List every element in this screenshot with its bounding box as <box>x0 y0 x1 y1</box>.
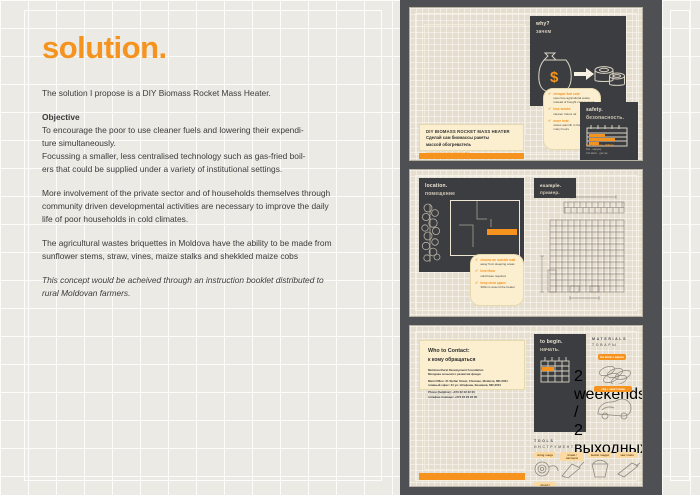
material-chip: clay + sand / глина <box>594 386 632 392</box>
dollar-glyph: $ <box>550 69 559 86</box>
agricultural-wastes-paragraph: The agricultural wastes briquettes in Mo… <box>42 237 332 263</box>
example-title-en: example. <box>540 183 576 190</box>
poster-cover[interactable]: why? зачем $ <box>410 8 642 160</box>
poster-orange-bar <box>419 153 524 159</box>
material-chip: fire bricks / кирпич <box>598 354 626 360</box>
location-panel-heading: location. помещение <box>419 178 524 198</box>
foliage-icon <box>421 202 447 264</box>
callout-item: ✔ level floor solid base required <box>475 269 519 277</box>
check-icon: ✔ <box>475 269 478 277</box>
solution-text-column: solution. The solution I propose is a DI… <box>0 0 400 495</box>
clay-sack-icon <box>594 396 636 420</box>
contact-line-2: Молдова сельского развития фонда <box>428 372 516 376</box>
right-page-margin <box>662 0 700 495</box>
callout-body: 300mm around the heater <box>480 285 515 289</box>
contact-address: Main Office: 31 Stefan Street, Chisinau,… <box>428 379 516 387</box>
tool-chip: shovel / лопата <box>534 482 556 486</box>
intro-paragraph: The solution I propose is a DIY Biomass … <box>42 87 332 100</box>
callout-item: ✔ keep clear space 300mm around the heat… <box>475 281 519 289</box>
safety-title-ru: безопасность. <box>586 115 638 123</box>
callout-text: choose an outside wall away from sleepin… <box>480 258 515 266</box>
tool-chip: saw / пила <box>616 452 638 458</box>
location-title-en: location. <box>425 183 524 191</box>
callout-text: keep clear space 300mm around the heater <box>480 281 515 289</box>
objective-line-3: Focussing a smaller, less centralised te… <box>42 151 305 161</box>
contact-title-ru: к кому обращаться <box>428 356 516 364</box>
check-icon: ✔ <box>548 92 551 104</box>
check-icon: ✔ <box>548 119 551 131</box>
callout-text: less smoke cleaner indoor air <box>553 107 576 115</box>
poster-cover-artboard <box>424 24 526 134</box>
callout-item: ✔ choose an outside wall away from sleep… <box>475 258 519 266</box>
poster-title-ru-2: массой обогреватель <box>426 142 517 148</box>
callout-text: level floor solid base required <box>480 269 505 277</box>
string-spool-icon <box>534 460 560 478</box>
tools-section: TOOLS ИНСТРУМЕНТ string / шнур trowel / … <box>534 438 638 480</box>
poster-board: why? зачем $ <box>400 0 662 495</box>
floor-plan-lines <box>451 201 517 253</box>
objective-label: Objective <box>42 111 332 124</box>
tool-chip: bucket / ведро <box>588 452 612 458</box>
poster-title-block: DIY BIOMASS ROCKET MASS HEATER Сделай са… <box>419 124 524 151</box>
solution-body: The solution I propose is a DIY Biomass … <box>42 87 366 300</box>
why-title-ru: зачем <box>536 29 626 37</box>
safety-panel-heading: safety. безопасность. <box>580 102 638 122</box>
callout-body: cleaner indoor air <box>553 112 576 116</box>
begin-title-ru: начать. <box>540 347 586 355</box>
why-panel-heading: why? зачем <box>530 16 626 36</box>
materials-section: MATERIALS ТОВАРЫ fire bricks / кирпич cl… <box>592 336 636 432</box>
example-title-ru: пример. <box>540 190 576 197</box>
trowel-icon <box>560 460 586 478</box>
brick-elevation-drawing: example. пример. <box>532 178 634 308</box>
arrow-right-icon <box>574 68 594 80</box>
concept-paragraph: This concept would be acheived through a… <box>42 274 332 300</box>
bucket-icon <box>588 460 614 478</box>
to-begin-panel: to begin. начать. 2 weekends / 2 выходны… <box>534 334 586 432</box>
page-title: solution. <box>42 32 366 63</box>
tools-label-ru: ИНСТРУМЕНТ <box>534 444 638 450</box>
callout-body: solid base required <box>480 274 505 278</box>
objective-line-4: ers that could be supplied under a varie… <box>42 164 282 174</box>
poster-contact-materials[interactable]: Who to Contact: к кому обращаться Moldov… <box>410 326 642 486</box>
calendar-icon <box>539 356 571 384</box>
materials-label-ru: ТОВАРЫ <box>592 342 636 348</box>
begin-title-en: to begin. <box>540 339 586 347</box>
poster-location[interactable]: location. помещение <box>410 170 642 316</box>
check-icon: ✔ <box>475 258 478 266</box>
example-label-badge: example. пример. <box>534 178 576 198</box>
private-sector-paragraph: More involvement of the private sector a… <box>42 187 332 226</box>
objective-line-1: To encourage the poor to use cleaner fue… <box>42 125 304 135</box>
to-begin-heading: to begin. начать. <box>534 334 586 354</box>
safety-legend: fire clearance · 300mm flue · наружу CO … <box>586 144 614 156</box>
tools-label: TOOLS ИНСТРУМЕНТ <box>534 438 638 450</box>
floor-plan-icon <box>450 200 520 256</box>
briquette-stack-icon <box>595 67 625 86</box>
safety-panel: safety. безопасность. fire clearance · 3… <box>580 102 638 160</box>
why-title-en: why? <box>536 21 626 29</box>
materials-label: MATERIALS ТОВАРЫ <box>592 336 636 348</box>
location-callout-bubble: ✔ choose an outside wall away from sleep… <box>470 254 524 306</box>
brick-pile-icon <box>594 362 636 384</box>
objective-block: Objective To encourage the poor to use c… <box>42 111 332 176</box>
contact-org: Moldova Rural Development Foundation Мол… <box>428 368 516 376</box>
objective-line-2: ture simultaneously. <box>42 138 116 148</box>
contact-title-en: Who to Contact: <box>428 347 516 356</box>
contact-line-6: телефон помощи: +373 22 22 22 00 <box>428 395 516 399</box>
check-icon: ✔ <box>548 107 551 115</box>
contact-phone[interactable]: Phone (helpline): +373 22 22 22 00 телеф… <box>428 390 516 398</box>
contact-block: Who to Contact: к кому обращаться Moldov… <box>419 340 525 390</box>
saw-icon <box>616 460 642 478</box>
example-heading: example. пример. <box>534 178 576 197</box>
check-icon: ✔ <box>475 281 478 289</box>
tool-chip: string / шнур <box>534 452 556 458</box>
contact-line-4: главный офис: 31 ул. Штефана, Кишинёв, M… <box>428 383 516 387</box>
callout-body: away from sleeping areas <box>480 262 514 266</box>
poster-orange-bar <box>419 473 525 480</box>
location-title-ru: помещение <box>425 191 524 199</box>
safety-title-en: safety. <box>586 107 638 115</box>
